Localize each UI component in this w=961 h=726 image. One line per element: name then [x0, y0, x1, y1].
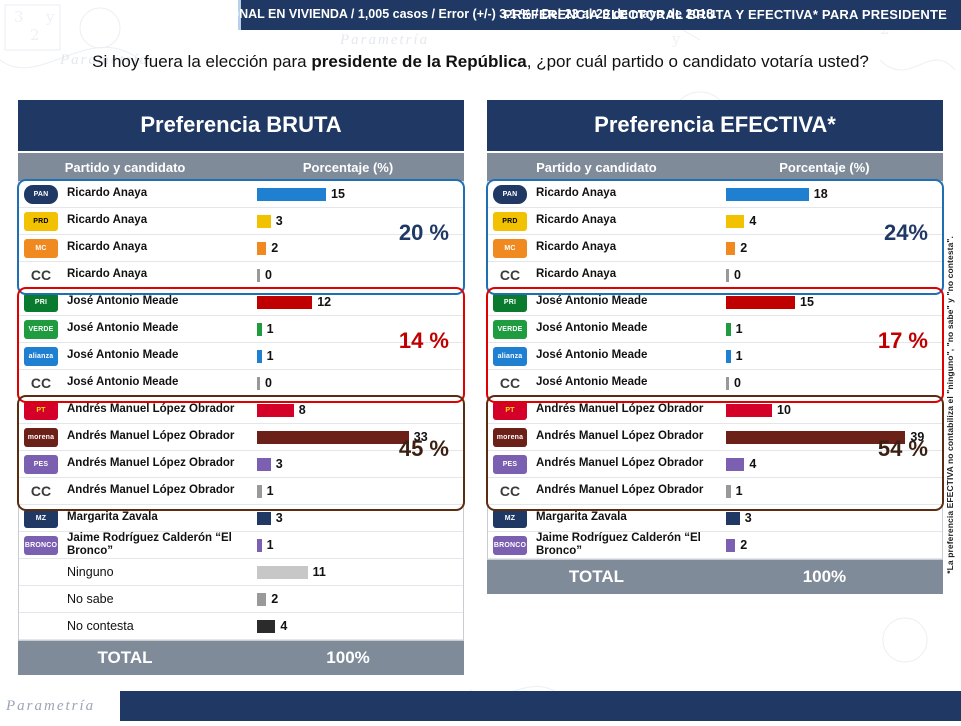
- group-percentage: 45 %: [399, 436, 449, 462]
- bar-value: 2: [271, 592, 278, 606]
- group-percentage: 17 %: [878, 328, 928, 354]
- candidate-name: Andrés Manuel López Obrador: [532, 457, 726, 470]
- bar-value: 12: [317, 295, 331, 309]
- table-row: CCRicardo Anaya0: [19, 262, 463, 289]
- brand-logo: Parametría: [0, 698, 95, 715]
- candidate-name: José Antonio Meade: [532, 376, 726, 389]
- bar-cell: 1: [726, 349, 743, 363]
- question-pre: Si hoy fuera la elección para: [92, 52, 311, 71]
- candidate-name: Andrés Manuel López Obrador: [532, 484, 726, 497]
- bar-cell: 4: [726, 214, 756, 228]
- table-row: PANRicardo Anaya15: [19, 181, 463, 208]
- table-row: alianzaJosé Antonio Meade1: [488, 343, 942, 370]
- empty-logo-cell: [19, 597, 63, 601]
- bar-value: 0: [734, 268, 741, 282]
- logo-glyph: PT: [24, 401, 58, 420]
- bar-value: 3: [276, 511, 283, 525]
- table-row: MCRicardo Anaya2: [488, 235, 942, 262]
- cc-label: CC: [19, 373, 63, 393]
- bar-value: 2: [271, 241, 278, 255]
- bar-cell: 4: [257, 619, 287, 633]
- question-post: , ¿por cuál partido o candidato votaría …: [527, 52, 869, 71]
- column-headers: Partido y candidatoPorcentaje (%): [18, 153, 464, 181]
- table-row: VERDEJosé Antonio Meade1: [488, 316, 942, 343]
- logo-glyph: morena: [24, 428, 58, 447]
- bar: [257, 539, 262, 552]
- bar: [257, 269, 260, 282]
- bar-cell: 0: [257, 376, 272, 390]
- candidate-name: José Antonio Meade: [532, 295, 726, 308]
- bar-cell: 4: [726, 457, 756, 471]
- logo-glyph: MZ: [24, 509, 58, 528]
- group-percentage: 14 %: [399, 328, 449, 354]
- panel-rows: PANRicardo Anaya18PRDRicardo Anaya4MCRic…: [487, 181, 943, 560]
- party-logo-verde-icon: VERDE: [19, 318, 63, 341]
- table-row: CCAndrés Manuel López Obrador1: [488, 478, 942, 505]
- party-logo-morena-icon: morena: [19, 426, 63, 449]
- candidate-name: Ricardo Anaya: [63, 268, 257, 281]
- cc-label: CC: [19, 265, 63, 285]
- bar: [257, 512, 271, 525]
- panel-rows: PANRicardo Anaya15PRDRicardo Anaya3MCRic…: [18, 181, 464, 641]
- bar-value: 11: [313, 565, 326, 579]
- cc-text: CC: [500, 267, 520, 283]
- bar-value: 1: [736, 349, 743, 363]
- bar-cell: 12: [257, 295, 331, 309]
- total-row: TOTAL100%: [487, 560, 943, 594]
- candidate-name: Ricardo Anaya: [63, 214, 257, 227]
- bar-cell: 3: [726, 511, 752, 525]
- bar-value: 0: [265, 376, 272, 390]
- logo-glyph: BRONCO: [493, 536, 527, 555]
- total-value: 100%: [706, 567, 943, 587]
- candidate-name: Andrés Manuel López Obrador: [532, 403, 726, 416]
- bar-value: 3: [276, 214, 283, 228]
- party-logo-mc-icon: MC: [19, 237, 63, 260]
- logo-glyph: VERDE: [24, 320, 58, 339]
- table-row: morenaAndrés Manuel López Obrador33: [19, 424, 463, 451]
- party-logo-bronco-icon: BRONCO: [19, 534, 63, 557]
- logo-glyph: PRI: [24, 293, 58, 312]
- bar-cell: 11: [257, 565, 326, 579]
- party-logo-indep-mz-icon: MZ: [488, 507, 532, 530]
- candidate-name: Ninguno: [63, 565, 257, 579]
- cc-text: CC: [31, 375, 51, 391]
- panel-title: Preferencia EFECTIVA*: [487, 100, 943, 153]
- bar: [726, 215, 744, 228]
- candidate-name: José Antonio Meade: [63, 322, 257, 335]
- candidate-name: Andrés Manuel López Obrador: [532, 430, 726, 443]
- group-percentage: 24%: [884, 220, 928, 246]
- bar: [257, 404, 294, 417]
- footer-text: ENCUESTA NACIONAL EN VIVIENDA / 1,005 ca…: [128, 7, 717, 21]
- bar: [257, 431, 409, 444]
- cc-text: CC: [31, 483, 51, 499]
- panel-title: Preferencia BRUTA: [18, 100, 464, 153]
- bar: [257, 593, 266, 606]
- logo-glyph: VERDE: [493, 320, 527, 339]
- empty-logo-cell: [19, 570, 63, 574]
- bar-value: 2: [740, 538, 747, 552]
- bar: [726, 404, 772, 417]
- party-logo-pes-icon: PES: [19, 453, 63, 476]
- logo-glyph: MC: [24, 239, 58, 258]
- bar-value: 1: [267, 484, 274, 498]
- bar-cell: 3: [257, 511, 283, 525]
- watermark-top: Parametría: [340, 32, 429, 49]
- cc-text: CC: [500, 483, 520, 499]
- bar-value: 1: [267, 538, 274, 552]
- bar: [726, 458, 744, 471]
- bar-cell: 1: [257, 538, 274, 552]
- party-logo-pt-icon: PT: [19, 399, 63, 422]
- logo-glyph: morena: [493, 428, 527, 447]
- candidate-name: No contesta: [63, 619, 257, 633]
- bar-value: 15: [331, 187, 345, 201]
- table-row: PESAndrés Manuel López Obrador4: [488, 451, 942, 478]
- bar: [257, 566, 308, 579]
- party-logo-prd-icon: PRD: [488, 210, 532, 233]
- total-row: TOTAL100%: [18, 641, 464, 675]
- party-logo-indep-mz-icon: MZ: [19, 507, 63, 530]
- group-percentage: 20 %: [399, 220, 449, 246]
- page-question: Si hoy fuera la elección para presidente…: [0, 52, 961, 72]
- bar-cell: 2: [257, 592, 278, 606]
- party-logo-alianza-icon: alianza: [19, 345, 63, 368]
- candidate-name: Margarita Zavala: [532, 511, 726, 524]
- bar-value: 4: [749, 214, 756, 228]
- total-label: TOTAL: [487, 567, 706, 587]
- bar-value: 3: [276, 457, 283, 471]
- candidate-name: José Antonio Meade: [63, 376, 257, 389]
- table-row: MZMargarita Zavala3: [19, 505, 463, 532]
- cc-text: CC: [31, 267, 51, 283]
- bar-value: 10: [777, 403, 791, 417]
- bar: [257, 485, 262, 498]
- logo-glyph: PRD: [24, 212, 58, 231]
- table-row: CCJosé Antonio Meade0: [488, 370, 942, 397]
- bar: [257, 242, 266, 255]
- candidate-name: Andrés Manuel López Obrador: [63, 457, 257, 470]
- header-party-candidate: Partido y candidato: [18, 160, 232, 175]
- svg-text:y: y: [671, 30, 681, 48]
- candidate-name: Andrés Manuel López Obrador: [63, 484, 257, 497]
- table-row: MCRicardo Anaya2: [19, 235, 463, 262]
- party-logo-morena-icon: morena: [488, 426, 532, 449]
- table-row: alianzaJosé Antonio Meade1: [19, 343, 463, 370]
- panel-preferencia-efectiva: Preferencia EFECTIVA*Partido y candidato…: [487, 100, 943, 594]
- bar-value: 3: [745, 511, 752, 525]
- party-logo-alianza-icon: alianza: [488, 345, 532, 368]
- effective-preference-note: *La preferencia EFECTIVA no contabiliza …: [945, 236, 959, 574]
- bar-cell: 2: [726, 241, 747, 255]
- bar-value: 18: [814, 187, 828, 201]
- table-row: No contesta4: [19, 613, 463, 640]
- table-row: VERDEJosé Antonio Meade1: [19, 316, 463, 343]
- candidate-name: Ricardo Anaya: [532, 187, 726, 200]
- bar-cell: 1: [257, 322, 274, 336]
- bar-value: 2: [740, 241, 747, 255]
- table-row: BRONCOJaime Rodríguez Calderón “El Bronc…: [19, 532, 463, 559]
- bar-cell: 3: [257, 457, 283, 471]
- logo-glyph: PES: [493, 455, 527, 474]
- cc-label: CC: [488, 265, 532, 285]
- bar: [257, 188, 326, 201]
- table-row: No sabe2: [19, 586, 463, 613]
- logo-glyph: alianza: [24, 347, 58, 366]
- bar-cell: 15: [257, 187, 345, 201]
- table-row: CCJosé Antonio Meade0: [19, 370, 463, 397]
- party-logo-pan-icon: PAN: [19, 183, 63, 206]
- bar: [726, 377, 729, 390]
- bar-cell: 3: [257, 214, 283, 228]
- candidate-name: Jaime Rodríguez Calderón “El Bronco”: [532, 532, 726, 558]
- candidate-name: Ricardo Anaya: [63, 241, 257, 254]
- bar: [726, 269, 729, 282]
- logo-glyph: PAN: [24, 185, 58, 204]
- candidate-name: Andrés Manuel López Obrador: [63, 430, 257, 443]
- bar-value: 1: [736, 322, 743, 336]
- total-label: TOTAL: [18, 648, 232, 668]
- cc-text: CC: [500, 375, 520, 391]
- party-logo-pes-icon: PES: [488, 453, 532, 476]
- candidate-name: José Antonio Meade: [532, 322, 726, 335]
- header-percentage: Porcentaje (%): [706, 160, 943, 175]
- table-row: CCAndrés Manuel López Obrador1: [19, 478, 463, 505]
- table-row: CCRicardo Anaya0: [488, 262, 942, 289]
- bar-cell: 1: [726, 484, 743, 498]
- column-headers: Partido y candidatoPorcentaje (%): [487, 153, 943, 181]
- bar: [257, 323, 262, 336]
- candidate-name: Ricardo Anaya: [532, 214, 726, 227]
- logo-glyph: alianza: [493, 347, 527, 366]
- bar-cell: 10: [726, 403, 791, 417]
- bar: [726, 296, 795, 309]
- bar-cell: 2: [726, 538, 747, 552]
- footer-brand-box: Parametría: [0, 691, 120, 721]
- bar: [726, 323, 731, 336]
- bar: [257, 620, 275, 633]
- total-value: 100%: [232, 648, 464, 668]
- header-party-candidate: Partido y candidato: [487, 160, 706, 175]
- table-row: MZMargarita Zavala3: [488, 505, 942, 532]
- candidate-name: No sabe: [63, 592, 257, 606]
- bar-cell: 1: [257, 484, 274, 498]
- bar: [726, 242, 735, 255]
- bar-cell: 1: [257, 349, 274, 363]
- candidate-name: José Antonio Meade: [63, 349, 257, 362]
- candidate-name: Ricardo Anaya: [532, 241, 726, 254]
- bar: [726, 188, 809, 201]
- logo-glyph: PRD: [493, 212, 527, 231]
- bar: [257, 215, 271, 228]
- table-row: BRONCOJaime Rodríguez Calderón “El Bronc…: [488, 532, 942, 559]
- table-row: PANRicardo Anaya18: [488, 181, 942, 208]
- party-logo-pan-icon: PAN: [488, 183, 532, 206]
- table-row: PESAndrés Manuel López Obrador3: [19, 451, 463, 478]
- table-row: PRDRicardo Anaya4: [488, 208, 942, 235]
- bar: [726, 485, 731, 498]
- bar-cell: 0: [257, 268, 272, 282]
- party-logo-mc-icon: MC: [488, 237, 532, 260]
- party-logo-pt-icon: PT: [488, 399, 532, 422]
- bar-value: 1: [736, 484, 743, 498]
- candidate-name: Ricardo Anaya: [63, 187, 257, 200]
- bar-cell: 2: [257, 241, 278, 255]
- bar: [257, 296, 312, 309]
- table-row: PRIJosé Antonio Meade15: [488, 289, 942, 316]
- bar: [726, 512, 740, 525]
- logo-glyph: PES: [24, 455, 58, 474]
- table-row: PRDRicardo Anaya3: [19, 208, 463, 235]
- bar: [257, 350, 262, 363]
- bar-cell: 8: [257, 403, 306, 417]
- bar-value: 1: [267, 322, 274, 336]
- footer-bar: [0, 691, 961, 721]
- bar-value: 0: [265, 268, 272, 282]
- table-row: PTAndrés Manuel López Obrador10: [488, 397, 942, 424]
- bar: [726, 539, 735, 552]
- bar: [726, 350, 731, 363]
- empty-logo-cell: [19, 624, 63, 628]
- party-logo-bronco-icon: BRONCO: [488, 534, 532, 557]
- table-row: PTAndrés Manuel López Obrador8: [19, 397, 463, 424]
- bar-value: 1: [267, 349, 274, 363]
- bar-value: 0: [734, 376, 741, 390]
- party-logo-pri-icon: PRI: [488, 291, 532, 314]
- group-percentage: 54 %: [878, 436, 928, 462]
- party-logo-verde-icon: VERDE: [488, 318, 532, 341]
- bar: [257, 377, 260, 390]
- bar-value: 15: [800, 295, 814, 309]
- bar-value: 8: [299, 403, 306, 417]
- bar: [257, 458, 271, 471]
- logo-glyph: MC: [493, 239, 527, 258]
- cc-label: CC: [19, 481, 63, 501]
- cc-label: CC: [488, 481, 532, 501]
- logo-glyph: PAN: [493, 185, 527, 204]
- party-logo-pri-icon: PRI: [19, 291, 63, 314]
- panel-preferencia-bruta: Preferencia BRUTAPartido y candidatoPorc…: [18, 100, 464, 675]
- bar-cell: 0: [726, 268, 741, 282]
- bar-value: 4: [749, 457, 756, 471]
- logo-glyph: BRONCO: [24, 536, 58, 555]
- logo-glyph: MZ: [493, 509, 527, 528]
- party-logo-prd-icon: PRD: [19, 210, 63, 233]
- bar-cell: 0: [726, 376, 741, 390]
- bar-cell: 15: [726, 295, 814, 309]
- cc-label: CC: [488, 373, 532, 393]
- bar-cell: 1: [726, 322, 743, 336]
- logo-glyph: PRI: [493, 293, 527, 312]
- candidate-name: Andrés Manuel López Obrador: [63, 403, 257, 416]
- bar-value: 4: [280, 619, 287, 633]
- candidate-name: José Antonio Meade: [63, 295, 257, 308]
- candidate-name: Margarita Zavala: [63, 511, 257, 524]
- logo-glyph: PT: [493, 401, 527, 420]
- table-row: Ninguno11: [19, 559, 463, 586]
- header-percentage: Porcentaje (%): [232, 160, 464, 175]
- table-row: morenaAndrés Manuel López Obrador39: [488, 424, 942, 451]
- candidate-name: Ricardo Anaya: [532, 268, 726, 281]
- candidate-name: José Antonio Meade: [532, 349, 726, 362]
- candidate-name: Jaime Rodríguez Calderón “El Bronco”: [63, 532, 257, 558]
- question-bold: presidente de la República: [311, 52, 526, 71]
- table-row: PRIJosé Antonio Meade12: [19, 289, 463, 316]
- bar-cell: 18: [726, 187, 828, 201]
